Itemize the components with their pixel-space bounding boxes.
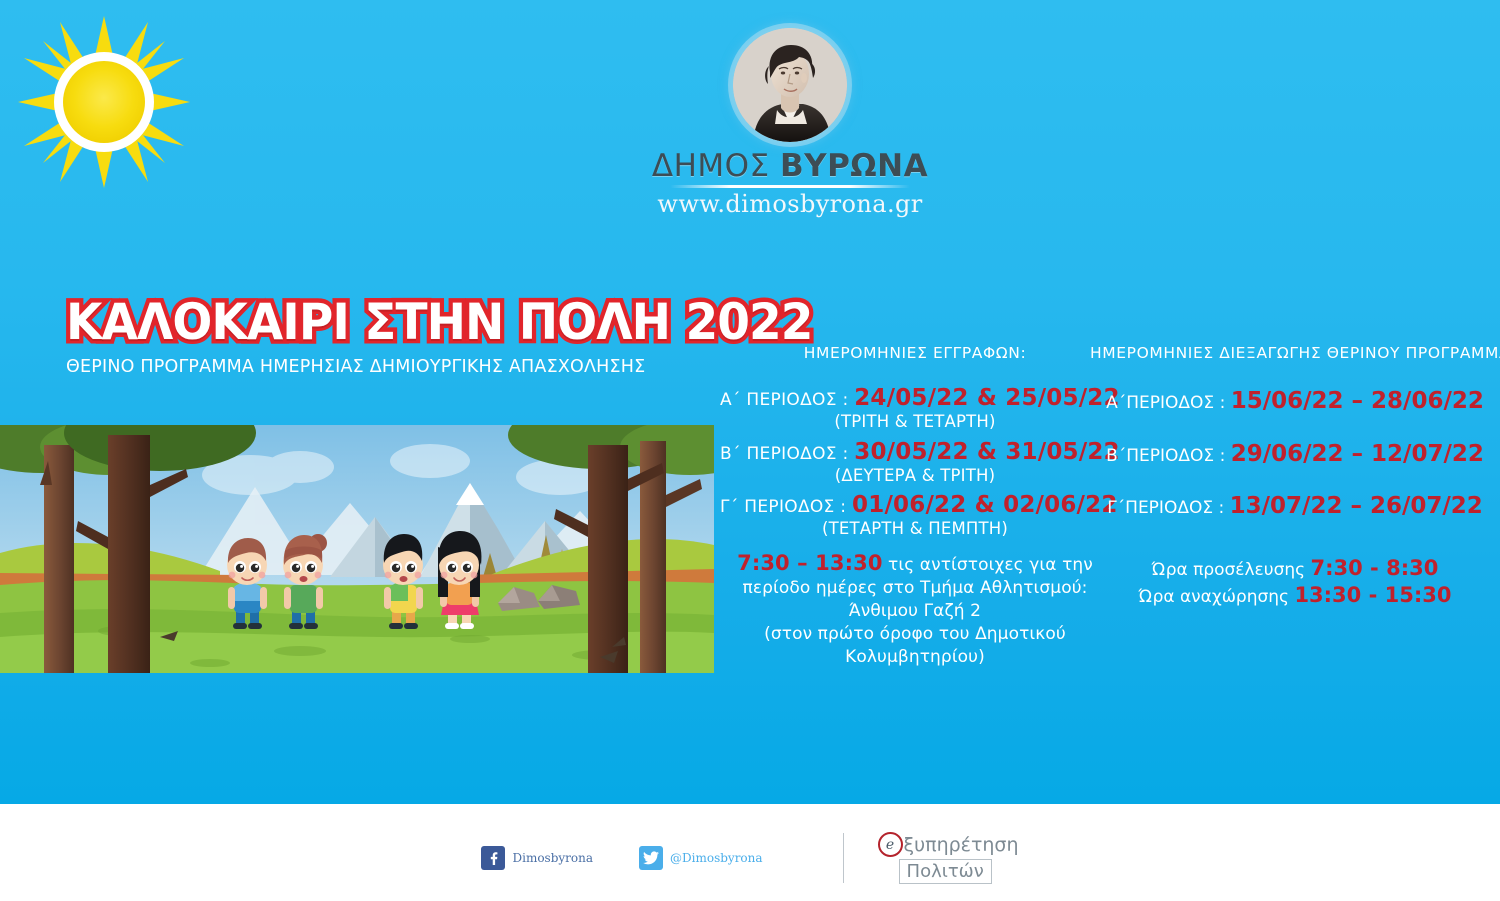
gov-service-word: ξυπηρέτηση <box>904 834 1019 856</box>
registration-period-1-dates: 24/05/22 & 25/05/22 <box>854 385 1120 411</box>
program-departure-label: Ώρα αναχώρησης <box>1139 587 1295 607</box>
twitter-icon <box>639 846 663 870</box>
program-period-1-range: 15/06/22 – 28/06/22 <box>1231 388 1484 414</box>
twitter-handle: @Dimosbyrona <box>670 851 763 865</box>
program-title: ΗΜΕΡΟΜΗΝΙΕΣ ΔΙΕΞΑΓΩΓΗΣ ΘΕΡΙΝΟΥ ΠΡΟΓΡΑΜΜΑ… <box>1090 344 1500 362</box>
registration-period-2-label: Β΄ ΠΕΡΙΟΔΟΣ : <box>720 444 854 464</box>
lord-byron-portrait-icon <box>733 28 847 142</box>
registration-title: ΗΜΕΡΟΜΗΝΙΕΣ ΕΓΓΡΑΦΩΝ: <box>720 344 1110 362</box>
program-period-2-range: 29/06/22 – 12/07/22 <box>1231 441 1484 467</box>
e-circle-icon: e <box>878 832 903 857</box>
program-departure: Ώρα αναχώρησης 13:30 - 15:30 <box>1090 582 1500 609</box>
registration-period-2: Β΄ ΠΕΡΙΟΔΟΣ : 30/05/22 & 31/05/22 <box>720 438 1110 466</box>
registration-note: 7:30 – 13:30 τις αντίστοιχες για την περ… <box>720 549 1110 669</box>
headline-block: ΚΑΛΟΚΑΙΡΙ ΣΤΗΝ ΠΟΛΗ 2022 ΘΕΡΙΝΟ ΠΡΟΓΡΑΜΜ… <box>66 296 686 377</box>
registration-period-2-days: (ΔΕΥΤΕΡΑ & ΤΡΙΤΗ) <box>720 466 1110 487</box>
program-period-1-label: Α΄ΠΕΡΙΟΔΟΣ : <box>1106 393 1231 413</box>
program-period-3-range: 13/07/22 – 26/07/22 <box>1230 493 1483 519</box>
registration-period-1-label: Α΄ ΠΕΡΙΟΔΟΣ : <box>720 390 854 410</box>
footer-divider <box>843 833 844 883</box>
registration-note-line-2: περίοδο ημέρες στο Τμήμα Αθλητισμού: <box>720 577 1110 600</box>
logo-url: www.dimosbyrona.gr <box>640 190 940 218</box>
registration-column: ΗΜΕΡΟΜΗΝΙΕΣ ΕΓΓΡΑΦΩΝ: Α΄ ΠΕΡΙΟΔΟΣ : 24/0… <box>720 344 1110 669</box>
program-departure-time: 13:30 - 15:30 <box>1294 583 1451 607</box>
gov-service-logo[interactable]: e ξυπηρέτηση Πολιτών <box>878 832 1019 884</box>
registration-period-2-dates: 30/05/22 & 31/05/22 <box>854 439 1120 465</box>
registration-period-3: Γ΄ ΠΕΡΙΟΔΟΣ : 01/06/22 & 02/06/22 <box>720 491 1110 519</box>
registration-note-line-4: (στον πρώτο όροφο του Δημοτικού Κολυμβητ… <box>720 623 1110 669</box>
registration-period-3-days: (ΤΕΤΑΡΤΗ & ΠΕΜΠΤΗ) <box>720 519 1110 540</box>
registration-period-3-dates: 01/06/22 & 02/06/22 <box>852 492 1118 518</box>
program-period-2: Β΄ΠΕΡΙΟΔΟΣ : 29/06/22 – 12/07/22 <box>1090 441 1500 469</box>
program-period-2-label: Β΄ΠΕΡΙΟΔΟΣ : <box>1106 446 1231 466</box>
logo-name-bold: ΒΥΡΩΝΑ <box>780 148 928 184</box>
sun-icon <box>14 12 194 192</box>
logo-name: ΔΗΜΟΣ ΒΥΡΩΝΑ <box>640 150 940 183</box>
program-arrival-time: 7:30 - 8:30 <box>1311 556 1439 580</box>
twitter-link[interactable]: @Dimosbyrona <box>639 846 763 870</box>
registration-note-time: 7:30 – 13:30 <box>737 551 882 575</box>
page-title: ΚΑΛΟΚΑΙΡΙ ΣΤΗΝ ΠΟΛΗ 2022 <box>66 296 649 349</box>
forest-children-illustration <box>0 425 714 673</box>
poster-root: ΔΗΜΟΣ ΒΥΡΩΝΑ www.dimosbyrona.gr ΚΑΛΟΚΑΙΡ… <box>0 0 1500 901</box>
registration-note-text-1: τις αντίστοιχες για την <box>883 555 1093 575</box>
logo-name-light: ΔΗΜΟΣ <box>652 148 780 184</box>
info-columns: ΗΜΕΡΟΜΗΝΙΕΣ ΕΓΓΡΑΦΩΝ: Α΄ ΠΕΡΙΟΔΟΣ : 24/0… <box>700 344 1500 644</box>
facebook-icon <box>481 846 505 870</box>
program-arrival-label: Ώρα προσέλευσης <box>1152 560 1311 580</box>
registration-period-1-days: (ΤΡΙΤΗ & ΤΕΤΑΡΤΗ) <box>720 412 1110 433</box>
program-arrival: Ώρα προσέλευσης 7:30 - 8:30 <box>1090 555 1500 582</box>
program-period-1: Α΄ΠΕΡΙΟΔΟΣ : 15/06/22 – 28/06/22 <box>1090 388 1500 416</box>
page-subtitle: ΘΕΡΙΝΟ ΠΡΟΓΡΑΜΜΑ ΗΜΕΡΗΣΙΑΣ ΔΗΜΙΟΥΡΓΙΚΗΣ … <box>66 357 686 377</box>
municipality-logo: ΔΗΜΟΣ ΒΥΡΩΝΑ www.dimosbyrona.gr <box>640 28 940 223</box>
facebook-handle: Dimosbyrona <box>512 851 593 865</box>
facebook-link[interactable]: Dimosbyrona <box>481 846 593 870</box>
registration-note-line-3: Άνθιμου Γαζή 2 <box>720 600 1110 623</box>
logo-underline <box>670 185 910 188</box>
registration-note-line-1: 7:30 – 13:30 τις αντίστοιχες για την <box>720 549 1110 577</box>
gov-service-second-line: Πολιτών <box>899 859 992 884</box>
registration-period-1: Α΄ ΠΕΡΙΟΔΟΣ : 24/05/22 & 25/05/22 <box>720 384 1110 412</box>
program-period-3: Γ΄ΠΕΡΙΟΔΟΣ : 13/07/22 – 26/07/22 <box>1090 493 1500 521</box>
program-period-3-label: Γ΄ΠΕΡΙΟΔΟΣ : <box>1107 498 1229 518</box>
program-column: ΗΜΕΡΟΜΗΝΙΕΣ ΔΙΕΞΑΓΩΓΗΣ ΘΕΡΙΝΟΥ ΠΡΟΓΡΑΜΜΑ… <box>1090 344 1500 609</box>
registration-period-3-label: Γ΄ ΠΕΡΙΟΔΟΣ : <box>720 497 852 517</box>
footer: Dimosbyrona @Dimosbyrona e ξυπηρέτηση Πο… <box>0 804 1500 901</box>
